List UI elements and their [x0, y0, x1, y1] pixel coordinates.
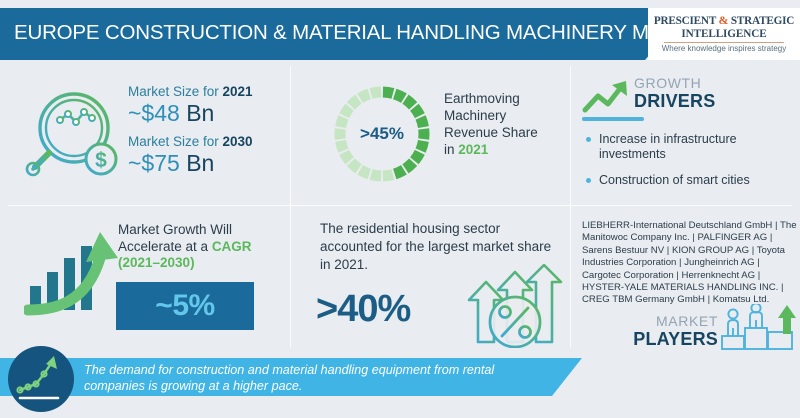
cagr-period: (2021–2030)	[118, 255, 195, 270]
growth-drivers-panel: GROWTH DRIVERS Increase in infrastructur…	[572, 64, 800, 204]
logo-line-2: INTELLIGENCE	[648, 28, 800, 40]
magnifying-glass-chart-icon: $	[22, 86, 126, 190]
year-2030: 2030	[223, 134, 253, 149]
caption-line-3: Revenue Share	[444, 125, 538, 140]
residential-share-panel: The residential housing sector accounted…	[292, 206, 570, 348]
growth-arrow-icon	[582, 76, 630, 116]
market-size-2021-value: ~$48 Bn	[128, 100, 288, 127]
cagr-line-1: Market Growth Will	[118, 222, 232, 237]
caption-line-1: Earthmoving	[444, 91, 520, 106]
logo-divider	[664, 42, 784, 43]
players-kicker: MARKET	[606, 314, 718, 329]
market-size-values: Market Size for 2021 ~$48 Bn Market Size…	[128, 84, 288, 184]
growth-drivers-list: Increase in infrastructure investments C…	[586, 132, 798, 199]
growth-driver-item: Construction of smart cities	[586, 173, 798, 188]
page-title: EUROPE CONSTRUCTION & MATERIAL HANDLING …	[14, 21, 654, 45]
banner-icon-circle	[8, 346, 74, 412]
caption-year: 2021	[458, 142, 488, 157]
market-players-list: LIEBHERR-International Deutschland GmbH …	[582, 220, 800, 307]
market-players-title: MARKET PLAYERS	[606, 314, 718, 349]
value-2021-unit: Bn	[180, 100, 215, 126]
page-header: EUROPE CONSTRUCTION & MATERIAL HANDLING …	[0, 8, 800, 60]
growth-underline	[582, 117, 644, 121]
market-size-panel: $ Market Size for 2021 ~$48 Bn Market Si…	[0, 64, 290, 204]
cagr-value-box: ~5%	[116, 282, 254, 330]
logo-line-1: PRESCIENT & STRATEGIC	[648, 13, 800, 28]
earthmoving-share-panel: >45% Earthmoving Machinery Revenue Share…	[292, 64, 570, 204]
market-size-2021-label: Market Size for 2021	[128, 84, 288, 99]
market-size-2030-label: Market Size for 2030	[128, 134, 288, 149]
growth-kicker: GROWTH	[634, 76, 715, 91]
label-prefix-2021: Market Size for	[128, 84, 223, 99]
value-2030-unit: Bn	[180, 150, 215, 176]
caption-line-4-prefix: in	[444, 142, 458, 157]
donut-caption: Earthmoving Machinery Revenue Share in 2…	[444, 90, 569, 158]
banner-text: The demand for construction and material…	[84, 362, 534, 394]
growth-driver-item: Increase in infrastructure investments	[586, 132, 798, 162]
label-prefix-2030: Market Size for	[128, 134, 223, 149]
cagr-value: ~5%	[155, 289, 214, 323]
logo-strategic: STRATEGIC	[728, 15, 794, 27]
percent-growth-arrows-icon	[464, 264, 574, 348]
cagr-line-2-prefix: Accelerate at a	[118, 239, 212, 254]
ampersand-icon: &	[718, 13, 728, 27]
players-heading: PLAYERS	[606, 329, 718, 349]
market-players-panel: LIEBHERR-International Deutschland GmbH …	[572, 206, 800, 348]
value-2030-number: ~$75	[128, 150, 180, 176]
cagr-panel: Market Growth Will Accelerate at a CAGR …	[0, 206, 290, 348]
market-size-2030-value: ~$75 Bn	[128, 150, 288, 177]
cagr-caption: Market Growth Will Accelerate at a CAGR …	[118, 222, 290, 272]
donut-chart: >45%	[330, 82, 434, 186]
cagr-keyword: CAGR	[212, 239, 252, 254]
caption-line-2: Machinery	[444, 108, 506, 123]
company-logo: PRESCIENT & STRATEGIC INTELLIGENCE Where…	[648, 8, 800, 60]
value-2021-number: ~$48	[128, 100, 180, 126]
svg-text:$: $	[95, 149, 107, 172]
year-2021: 2021	[223, 84, 253, 99]
divider-vertical-left	[290, 66, 291, 348]
residential-value: >40%	[316, 288, 410, 331]
growth-drivers-title: GROWTH DRIVERS	[634, 76, 715, 111]
donut-center-label: >45%	[330, 82, 434, 186]
trend-line-icon	[8, 346, 74, 412]
logo-prescient: PRESCIENT	[654, 15, 719, 27]
drivers-heading: DRIVERS	[634, 91, 715, 111]
logo-tagline: Where knowledge inspires strategy	[648, 44, 800, 53]
podium-people-icon	[720, 304, 800, 350]
